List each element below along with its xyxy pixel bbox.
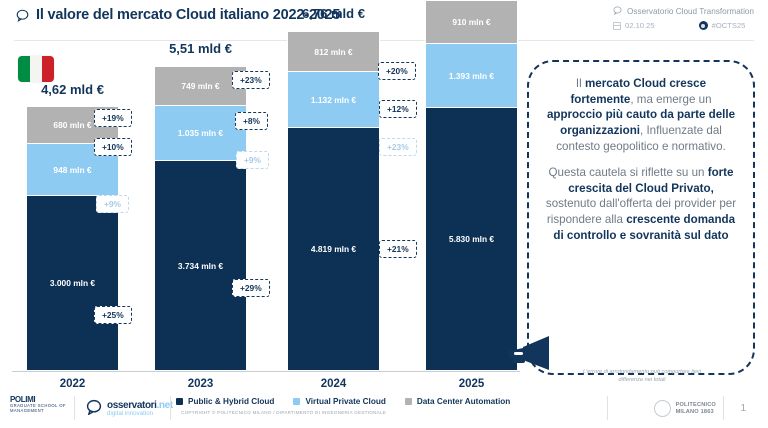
segment-dca-2025: 910 mln €: [425, 0, 518, 43]
polimi-gsom-logo: POLIMI GRADUATE SCHOOL OF MANAGEMENT: [10, 396, 66, 413]
segment-phc-2022: 3.000 mln €: [26, 195, 119, 371]
event-date-group: 02.10.25: [613, 21, 655, 30]
growth-badge-vpc-2022-2023: +9%: [96, 195, 129, 213]
observatory-label-row: Osservatorio Cloud Transformation: [613, 6, 754, 17]
politecnico-seal-icon: [654, 400, 671, 417]
segment-vpc-2025: 1.393 mln €: [425, 43, 518, 107]
growth-badge-total-2023-2024: +23%: [232, 71, 270, 89]
callout-paragraph-1: Il mercato Cloud cresce fortemente, ma e…: [545, 76, 737, 154]
x-axis-label-2025: 2025: [425, 378, 518, 390]
politecnico-logo-text: POLITECNICO MILANO 1863: [676, 402, 716, 415]
footer-divider-1: [74, 396, 75, 420]
calendar-icon: [613, 22, 621, 30]
insight-callout: Il mercato Cloud cresce fortemente, ma e…: [527, 60, 755, 375]
chart-legend: Public & Hybrid Cloud Virtual Private Cl…: [176, 397, 510, 406]
polimi-logo-line2: GRADUATE SCHOOL OF MANAGEMENT: [10, 404, 66, 413]
legend-item-public-hybrid-cloud: Public & Hybrid Cloud: [176, 397, 274, 406]
politecnico-line2: MILANO 1863: [676, 409, 714, 415]
growth-badge-dca-2024-2025: +12%: [379, 100, 417, 118]
speech-bubble-icon: [16, 9, 29, 22]
chart-baseline: [12, 371, 520, 372]
column-total-2022: 4,62 mld €: [26, 82, 119, 97]
observatory-name: Osservatorio Cloud Transformation: [627, 7, 754, 16]
growth-badge-dca-2023-2024: +8%: [235, 112, 268, 130]
column-total-2024: 6,76 mld €: [287, 6, 380, 21]
legend-item-data-center-automation: Data Center Automation: [405, 397, 510, 406]
callout-paragraph-2: Questa cautela si riflette su un forte c…: [545, 165, 737, 243]
bar-stack-2024: 812 mln € 1.132 mln € 4.819 mln €: [287, 31, 380, 371]
bar-stack-2025: 910 mln € 1.393 mln € 5.830 mln €: [425, 0, 518, 371]
footer-divider-3: [607, 396, 608, 420]
speech-bubble-icon: [86, 399, 102, 420]
politecnico-line1: POLITECNICO: [676, 402, 716, 408]
header-date-tag-row: 02.10.25 #OCTS25: [613, 21, 754, 30]
callout-p1-text2: , ma emerge un: [630, 93, 711, 106]
segment-phc-2024: 4.819 mln €: [287, 127, 380, 371]
stacked-bar-chart: 4,62 mld € 680 mln € 948 mln € 3.000 mln…: [0, 42, 530, 394]
header-divider: [14, 40, 754, 41]
page-number: 1: [740, 403, 746, 414]
slide: Il valore del mercato Cloud italiano 202…: [0, 0, 768, 428]
growth-badge-vpc-2023-2024: +9%: [236, 151, 269, 169]
event-date: 02.10.25: [625, 21, 655, 30]
legend-swatch-data-center-automation: [405, 398, 412, 405]
footer-divider-4: [723, 396, 724, 420]
callout-p1-text1: Il: [576, 77, 585, 90]
growth-badge-dca-2022-2023: +10%: [94, 138, 132, 156]
speech-bubble-icon: [613, 6, 622, 17]
growth-badge-total-2024-2025: +20%: [378, 62, 416, 80]
segment-vpc-2024: 1.132 mln €: [287, 71, 380, 127]
legend-label-virtual-private-cloud: Virtual Private Cloud: [305, 397, 385, 406]
osservatori-logo: osservatori.net digital innovation: [86, 399, 173, 420]
rounding-footnote: L'errore di arrotondamento può comportar…: [572, 368, 712, 384]
osservatori-logo-text: osservatori.net digital innovation: [107, 401, 173, 418]
event-hashtag-group: #OCTS25: [699, 21, 746, 30]
legend-label-public-hybrid-cloud: Public & Hybrid Cloud: [188, 397, 274, 406]
segment-vpc-2023: 1.035 mln €: [154, 105, 247, 160]
growth-badge-phc-2023-2024: +29%: [232, 279, 270, 297]
x-axis-label-2022: 2022: [26, 378, 119, 390]
circle-dot-icon: [699, 21, 708, 30]
header-meta-group: Osservatorio Cloud Transformation 02.10.…: [613, 6, 754, 30]
callout-p2-text1: Questa cautela si riflette su un: [549, 166, 708, 179]
bar-stack-2023: 749 mln € 1.035 mln € 3.734 mln €: [154, 66, 247, 371]
politecnico-milano-logo: POLITECNICO MILANO 1863: [654, 400, 716, 417]
growth-badge-vpc-2024-2025: +23%: [379, 138, 417, 156]
slide-header: Il valore del mercato Cloud italiano 202…: [0, 0, 768, 42]
segment-phc-2023: 3.734 mln €: [154, 160, 247, 371]
column-total-2023: 5,51 mld €: [154, 41, 247, 56]
segment-dca-2024: 812 mln €: [287, 31, 380, 71]
legend-swatch-public-hybrid-cloud: [176, 398, 183, 405]
legend-label-data-center-automation: Data Center Automation: [417, 397, 510, 406]
legend-swatch-virtual-private-cloud: [293, 398, 300, 405]
growth-badge-total-2022-2023: +19%: [94, 109, 132, 127]
megaphone-icon: [505, 330, 553, 370]
growth-badge-phc-2024-2025: +21%: [379, 240, 417, 258]
slide-footer: POLIMI GRADUATE SCHOOL OF MANAGEMENT oss…: [0, 394, 768, 428]
x-axis-label-2023: 2023: [154, 378, 247, 390]
growth-badge-phc-2022-2023: +25%: [94, 306, 132, 324]
copyright-text: COPYRIGHT © POLITECNICO MILANO / DIPARTI…: [181, 410, 386, 415]
event-hashtag: #OCTS25: [712, 21, 746, 30]
osservatori-tagline: digital innovation: [107, 411, 173, 417]
footer-divider-2: [170, 396, 171, 420]
x-axis-label-2024: 2024: [287, 378, 380, 390]
legend-item-virtual-private-cloud: Virtual Private Cloud: [293, 397, 385, 406]
